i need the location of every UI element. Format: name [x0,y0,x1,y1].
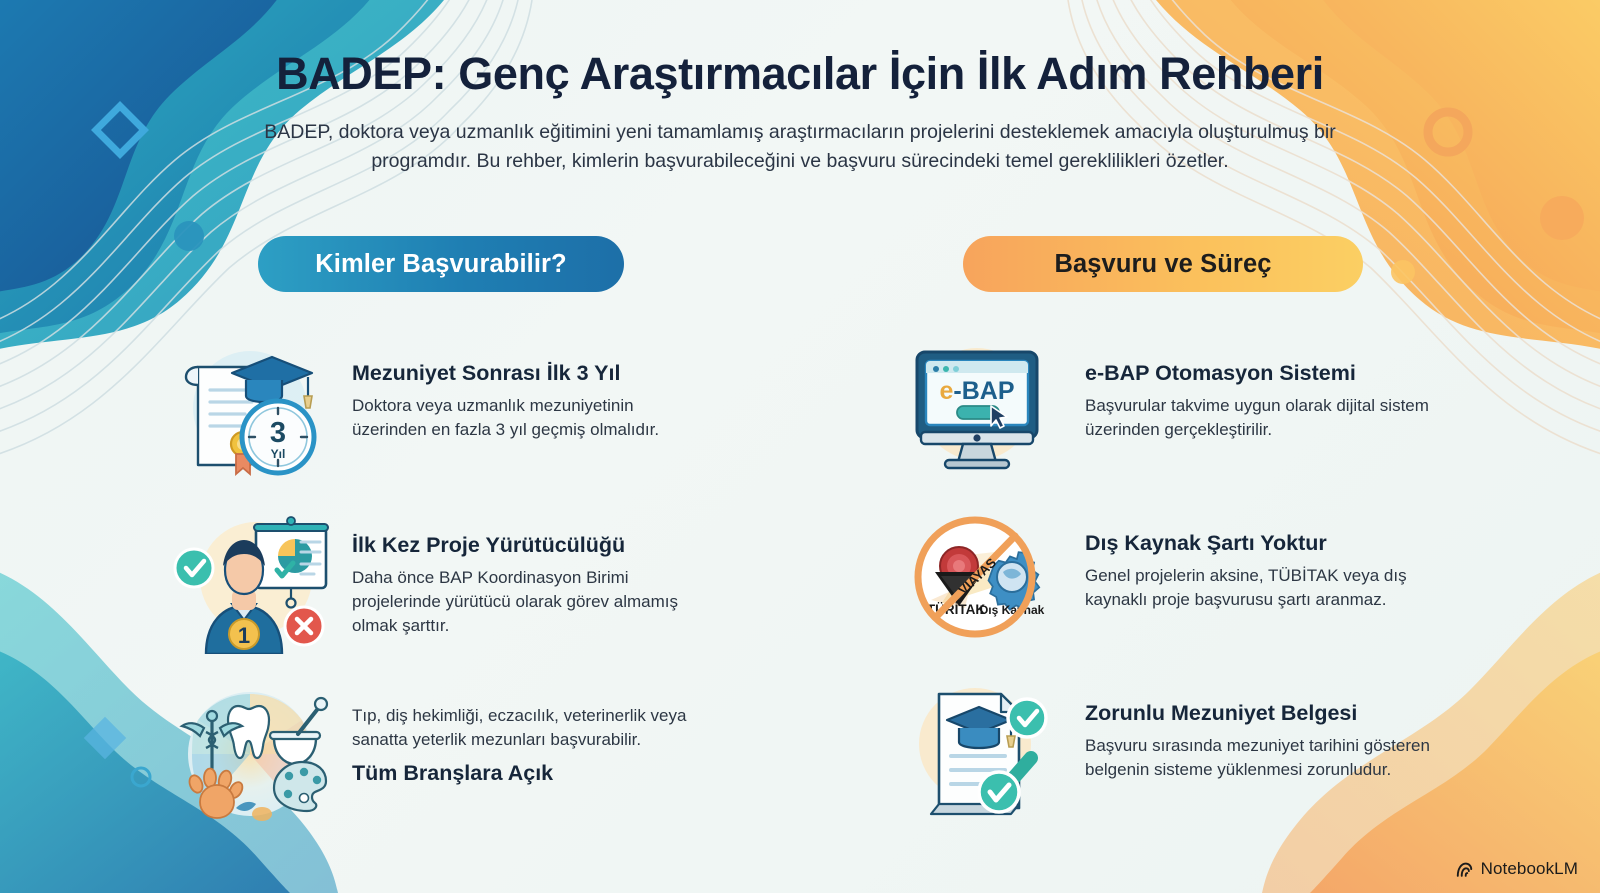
list-item-text: Tıp, diş hekimliği, eczacılık, veteriner… [330,676,697,787]
list-item-title: Dış Kaynak Şartı Yoktur [1085,530,1430,557]
clock-unit: Yıl [271,447,286,461]
disciplines-collage-icon [170,676,330,826]
list-item-body: Doktora veya uzmanlık mezuniyetinin üzer… [352,394,697,442]
list-item-title: e-BAP Otomasyon Sistemi [1085,360,1430,387]
notebooklm-watermark: NotebookLM [1455,859,1578,879]
list-item: TÜRİTAK Dış Kaynak VIAYAS Dış Kaynak Şar… [895,502,1495,652]
list-item: Tıp, diş hekimliği, eczacılık, veteriner… [170,676,770,826]
badge-number: 1 [238,623,250,648]
logo-label-right: Dış Kaynak [980,603,1045,617]
list-item-text: Dış Kaynak Şartı Yoktur Genel projelerin… [1055,502,1430,612]
page-header: BADEP: Genç Araştırmacılar İçin İlk Adım… [0,48,1600,177]
clock-number: 3 [270,417,286,449]
section-list-kimler-basvurabilir: 3 Yıl Mezuniyet Sonrası İlk 3 Yıl Doktor… [170,332,770,848]
screen-label: e-BAP [939,377,1014,405]
list-item-body: Daha önce BAP Koordinasyon Birimi projel… [352,566,697,638]
section-heading-label: Kimler Başvurabilir? [315,250,566,279]
monitor-ebap-icon: e-BAP [895,332,1055,482]
list-item-title: İlk Kez Proje Yürütücülüğü [352,532,697,559]
list-item-body: Tıp, diş hekimliği, eczacılık, veteriner… [352,704,697,752]
page-subtitle: BADEP, doktora veya uzmanlık eğitimini y… [230,118,1370,177]
page-title: BADEP: Genç Araştırmacılar İçin İlk Adım… [0,48,1600,100]
watermark-label: NotebookLM [1481,859,1578,879]
section-list-basvuru-ve-surec: e-BAP e-BAP Otomasyon Sistemi Başvurular… [895,332,1495,842]
list-item-title: Tüm Branşlara Açık [352,760,697,787]
list-item: e-BAP e-BAP Otomasyon Sistemi Başvurular… [895,332,1495,482]
list-item-text: Mezuniyet Sonrası İlk 3 Yıl Doktora veya… [330,332,697,442]
list-item-text: Zorunlu Mezuniyet Belgesi Başvuru sırası… [1055,672,1430,782]
section-heading-kimler-basvurabilir: Kimler Başvurabilir? [258,236,624,292]
list-item-text: e-BAP Otomasyon Sistemi Başvurular takvi… [1055,332,1430,442]
graduation-certificate-check-icon [895,672,1055,822]
list-item-body: Başvurular takvime uygun olarak dijital … [1085,394,1430,442]
section-heading-label: Başvuru ve Süreç [1054,250,1271,279]
list-item: Zorunlu Mezuniyet Belgesi Başvuru sırası… [895,672,1495,822]
notebooklm-logo-icon [1455,860,1474,879]
no-external-funding-icon: TÜRİTAK Dış Kaynak VIAYAS [895,502,1055,652]
section-heading-basvuru-ve-surec: Başvuru ve Süreç [963,236,1363,292]
list-item-body: Genel projelerin aksine, TÜBİTAK veya dı… [1085,564,1430,612]
researcher-presentation-icon: 1 [170,504,330,654]
diploma-cap-clock-icon: 3 Yıl [170,332,330,482]
list-item-body: Başvuru sırasında mezuniyet tarihini gös… [1085,734,1430,782]
list-item-title: Mezuniyet Sonrası İlk 3 Yıl [352,360,697,387]
list-item-text: İlk Kez Proje Yürütücülüğü Daha önce BAP… [330,504,697,638]
list-item: 3 Yıl Mezuniyet Sonrası İlk 3 Yıl Doktor… [170,332,770,482]
list-item-title: Zorunlu Mezuniyet Belgesi [1085,700,1430,727]
list-item: 1 İlk Kez Proje Yürütücülüğü Daha önce B… [170,504,770,654]
infographic-canvas: BADEP: Genç Araştırmacılar İçin İlk Adım… [0,0,1600,893]
